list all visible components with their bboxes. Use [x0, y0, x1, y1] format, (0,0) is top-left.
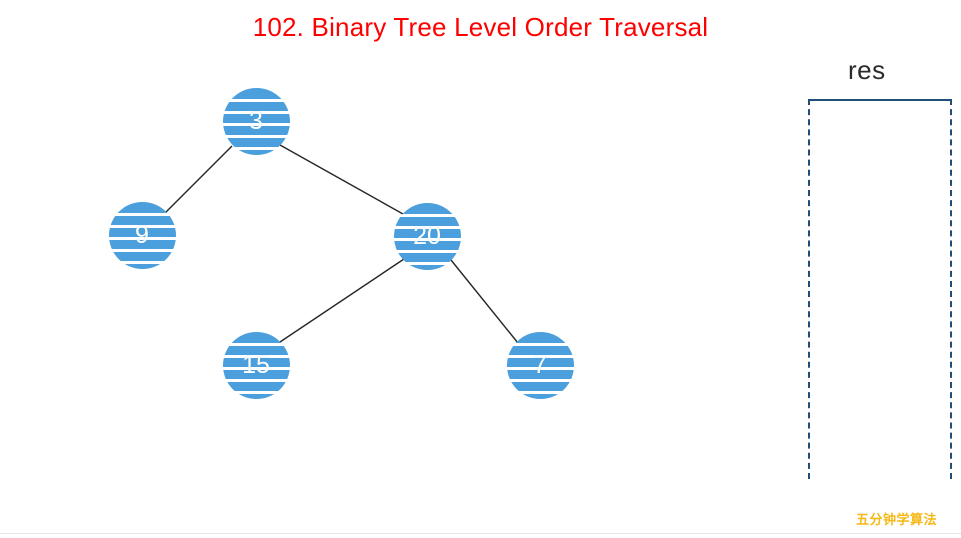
tree-node-label: 9 — [135, 223, 149, 248]
footer-divider — [0, 533, 961, 534]
tree-node-3[interactable]: 3 — [223, 88, 290, 155]
slide-canvas: 102. Binary Tree Level Order Traversal 3… — [0, 0, 961, 538]
tree-node-15[interactable]: 15 — [223, 332, 290, 399]
result-panel-box — [808, 99, 952, 479]
page-title: 102. Binary Tree Level Order Traversal — [0, 12, 961, 43]
tree-edge — [280, 145, 403, 214]
result-panel-label: res — [848, 55, 886, 86]
tree-node-20[interactable]: 20 — [394, 203, 461, 270]
tree-node-7[interactable]: 7 — [507, 332, 574, 399]
tree-node-label: 3 — [249, 109, 263, 134]
watermark-text: 五分钟学算法 — [856, 509, 937, 528]
tree-node-label: 20 — [413, 224, 441, 249]
tree-edge — [451, 260, 518, 343]
tree-edge — [280, 259, 404, 342]
tree-node-9[interactable]: 9 — [109, 202, 176, 269]
tree-edge — [166, 146, 232, 212]
tree-node-label: 7 — [533, 353, 547, 378]
tree-node-label: 15 — [242, 353, 270, 378]
